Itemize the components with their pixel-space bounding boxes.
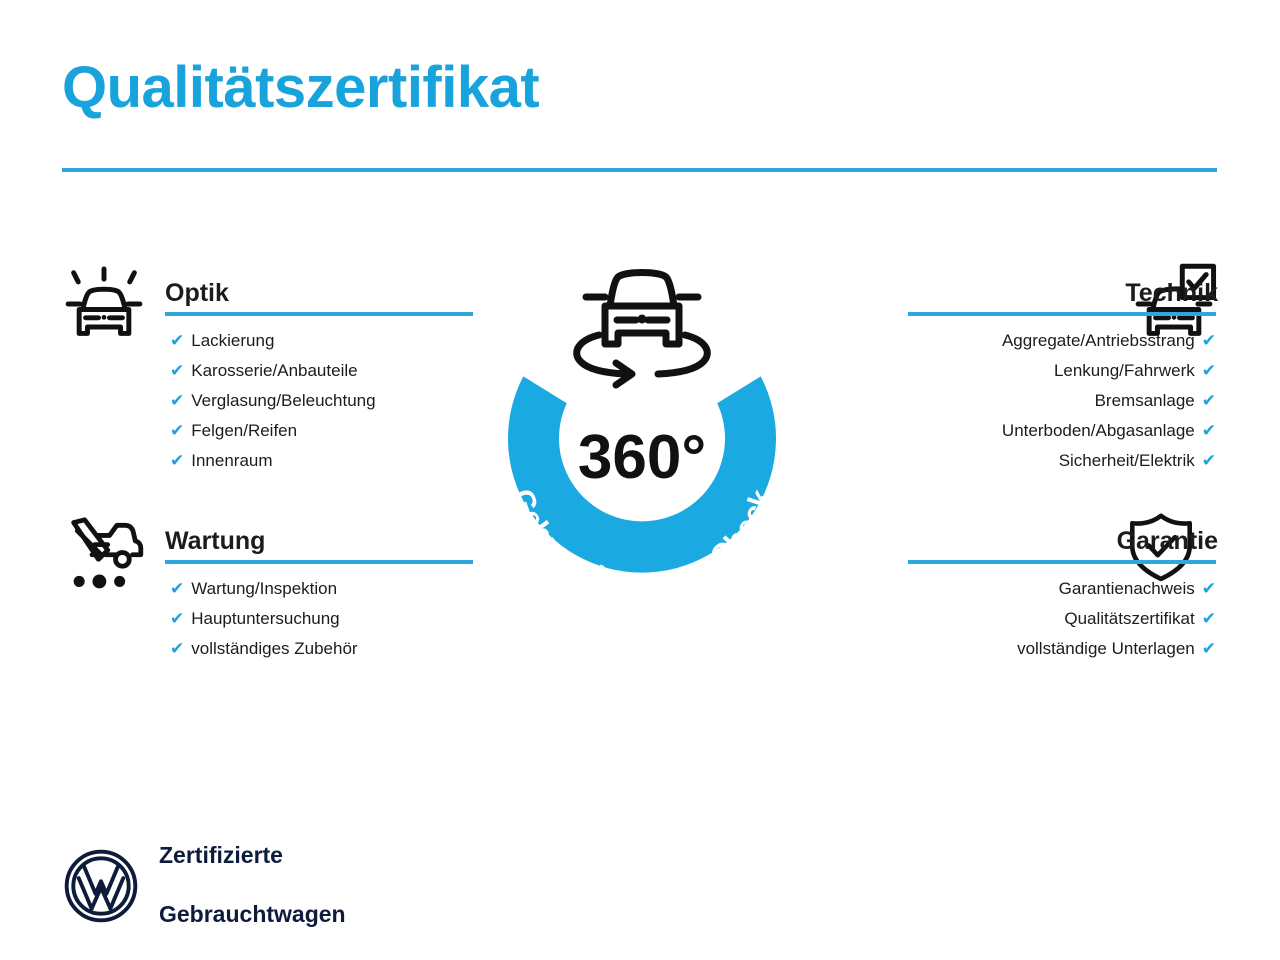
- car-rotate-360-icon: [577, 273, 708, 386]
- list-item: Unterboden/Abgasanlage✔: [798, 416, 1218, 446]
- list-item-label: vollständiges Zubehör: [191, 639, 357, 658]
- check-icon: ✔: [1202, 579, 1216, 598]
- section-garantie-header: Garantie: [798, 518, 1218, 564]
- section-wartung-title: Wartung: [165, 527, 265, 556]
- footer-line-1: Zertifizierte: [159, 841, 346, 870]
- check-icon: ✔: [1202, 391, 1216, 410]
- list-item: ✔vollständiges Zubehör: [58, 634, 478, 664]
- list-item: Lenkung/Fahrwerk✔: [798, 356, 1218, 386]
- check-icon: ✔: [1202, 331, 1216, 350]
- list-item: Aggregate/Antriebsstrang✔: [798, 326, 1218, 356]
- list-item-label: Unterboden/Abgasanlage: [1002, 421, 1195, 440]
- page-title: Qualitätszertifikat: [62, 58, 539, 119]
- section-optik: Optik ✔Lackierung ✔Karosserie/Anbauteile…: [58, 270, 478, 316]
- list-item-label: Lenkung/Fahrwerk: [1054, 361, 1195, 380]
- check-icon: ✔: [170, 391, 184, 410]
- section-technik-title: Technik: [1125, 279, 1218, 308]
- check-icon: ✔: [170, 579, 184, 598]
- section-wartung-divider: [165, 560, 473, 564]
- list-item-label: Lackierung: [191, 331, 274, 350]
- gebrauchtwagen-check-badge: Gebrauchtwagen-Check 360°: [466, 246, 818, 638]
- list-item-label: Qualitätszertifikat: [1064, 609, 1194, 628]
- list-item: ✔Lackierung: [58, 326, 478, 356]
- list-item-label: vollständige Unterlagen: [1017, 639, 1195, 658]
- list-item-label: Felgen/Reifen: [191, 421, 297, 440]
- list-item-label: Hauptuntersuchung: [191, 609, 339, 628]
- list-item: Bremsanlage✔: [798, 386, 1218, 416]
- section-garantie-title: Garantie: [1117, 527, 1218, 556]
- footer-brand-text: Zertifizierte Gebrauchtwagen: [159, 812, 346, 959]
- check-icon: ✔: [170, 361, 184, 380]
- section-technik-list: Aggregate/Antriebsstrang✔ Lenkung/Fahrwe…: [798, 326, 1218, 476]
- list-item: ✔Karosserie/Anbauteile: [58, 356, 478, 386]
- list-item: ✔Hauptuntersuchung: [58, 604, 478, 634]
- check-icon: ✔: [170, 639, 184, 658]
- section-technik-header: Technik: [798, 270, 1218, 316]
- section-garantie-list: Garantienachweis✔ Qualitätszertifikat✔ v…: [798, 574, 1218, 664]
- list-item: ✔Wartung/Inspektion: [58, 574, 478, 604]
- footer-brand: Zertifizierte Gebrauchtwagen: [62, 812, 346, 959]
- badge-center-label: 360°: [578, 423, 706, 492]
- section-wartung: Wartung ✔Wartung/Inspektion ✔Hauptunters…: [58, 518, 478, 564]
- list-item: Garantienachweis✔: [798, 574, 1218, 604]
- check-icon: ✔: [1202, 451, 1216, 470]
- check-icon: ✔: [1202, 639, 1216, 658]
- section-optik-list: ✔Lackierung ✔Karosserie/Anbauteile ✔Verg…: [58, 326, 478, 476]
- list-item-label: Aggregate/Antriebsstrang: [1002, 331, 1195, 350]
- section-wartung-header: Wartung: [58, 518, 478, 564]
- section-garantie-divider: [908, 560, 1216, 564]
- list-item-label: Bremsanlage: [1095, 391, 1195, 410]
- list-item: ✔Innenraum: [58, 446, 478, 476]
- check-icon: ✔: [1202, 609, 1216, 628]
- list-item: ✔Felgen/Reifen: [58, 416, 478, 446]
- list-item-label: Innenraum: [191, 451, 272, 470]
- list-item-label: Karosserie/Anbauteile: [191, 361, 357, 380]
- section-optik-title: Optik: [165, 279, 229, 308]
- list-item: ✔Verglasung/Beleuchtung: [58, 386, 478, 416]
- list-item: vollständige Unterlagen✔: [798, 634, 1218, 664]
- check-icon: ✔: [1202, 361, 1216, 380]
- check-icon: ✔: [1202, 421, 1216, 440]
- section-garantie: Garantie Garantienachweis✔ Qualitätszert…: [798, 518, 1218, 564]
- section-technik: Technik Aggregate/Antriebsstrang✔ Lenkun…: [798, 270, 1218, 316]
- list-item-label: Wartung/Inspektion: [191, 579, 337, 598]
- volkswagen-logo: [62, 847, 140, 925]
- section-wartung-list: ✔Wartung/Inspektion ✔Hauptuntersuchung ✔…: [58, 574, 478, 664]
- check-icon: ✔: [170, 451, 184, 470]
- section-optik-header: Optik: [58, 270, 478, 316]
- check-icon: ✔: [170, 331, 184, 350]
- header-divider: [62, 168, 1217, 172]
- section-technik-divider: [908, 312, 1216, 316]
- list-item: Qualitätszertifikat✔: [798, 604, 1218, 634]
- list-item: Sicherheit/Elektrik✔: [798, 446, 1218, 476]
- section-optik-divider: [165, 312, 473, 316]
- certificate-page: Qualitätszertifikat Op: [0, 0, 1280, 960]
- list-item-label: Garantienachweis: [1059, 579, 1195, 598]
- check-icon: ✔: [170, 609, 184, 628]
- list-item-label: Verglasung/Beleuchtung: [191, 391, 375, 410]
- list-item-label: Sicherheit/Elektrik: [1059, 451, 1195, 470]
- check-icon: ✔: [170, 421, 184, 440]
- footer-line-2: Gebrauchtwagen: [159, 900, 346, 929]
